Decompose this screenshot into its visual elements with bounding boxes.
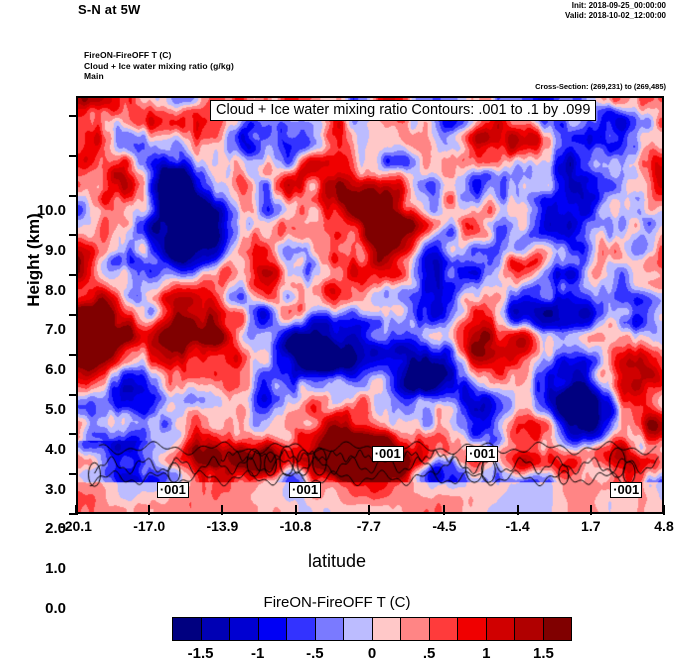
x-tick-mark xyxy=(295,505,297,515)
x-tick-label: 4.8 xyxy=(634,518,674,534)
x-tick-mark xyxy=(663,505,665,515)
contour-title: Cloud + Ice water mixing ratio Contours:… xyxy=(210,100,596,121)
y-tick-label: 6.0 xyxy=(14,361,66,378)
colorbar-swatch xyxy=(173,618,202,640)
x-tick-mark xyxy=(590,505,592,515)
contour-value-label: ·001 xyxy=(157,482,189,498)
contour-field-label: Cloud + Ice water mixing ratio (g/kg) xyxy=(84,61,234,72)
contour-value-label: ·001 xyxy=(372,446,404,462)
colorbar xyxy=(172,617,572,641)
cross-section-endpoints: Cross-Section: (269,231) to (269,485) xyxy=(535,82,666,91)
colorbar-tick-label: 0 xyxy=(342,645,402,662)
colorbar-tick-label: -.5 xyxy=(285,645,345,662)
colorbar-swatch xyxy=(430,618,459,640)
colorbar-tick-label: -1.5 xyxy=(171,645,231,662)
temperature-anomaly-field xyxy=(78,98,662,512)
y-tick-label: 3.0 xyxy=(14,481,66,498)
colorbar-title: FireON-FireOFF T (C) xyxy=(0,594,674,611)
colorbar-swatch xyxy=(458,618,487,640)
y-tick-mark xyxy=(69,115,78,117)
colorbar-swatch xyxy=(316,618,345,640)
page-title: S-N at 5W xyxy=(78,2,140,17)
x-tick-label: 1.7 xyxy=(561,518,621,534)
x-tick-mark xyxy=(148,505,150,515)
colorbar-swatch xyxy=(544,618,572,640)
x-tick-label: -17.0 xyxy=(119,518,179,534)
y-tick-label: 5.0 xyxy=(14,401,66,418)
contour-value-label: ·001 xyxy=(610,482,642,498)
y-tick-mark xyxy=(69,394,78,396)
contour-value-label: ·001 xyxy=(466,446,498,462)
valid-time: Valid: 2018-10-02_12:00:00 xyxy=(565,11,666,21)
x-tick-label: -4.5 xyxy=(414,518,474,534)
colorbar-swatch xyxy=(259,618,288,640)
y-tick-mark xyxy=(69,314,78,316)
colorbar-tick-label: .5 xyxy=(399,645,459,662)
colorbar-tick-label: -1 xyxy=(228,645,288,662)
y-tick-mark xyxy=(69,234,78,236)
domain-label: Main xyxy=(84,71,234,82)
x-tick-mark xyxy=(443,505,445,515)
y-tick-mark xyxy=(69,274,78,276)
colorbar-swatch xyxy=(202,618,231,640)
colorbar-tick-label: 1.5 xyxy=(513,645,573,662)
x-tick-mark xyxy=(368,505,370,515)
y-tick-mark xyxy=(69,354,78,356)
x-tick-label: -1.4 xyxy=(488,518,548,534)
colorbar-swatch xyxy=(287,618,316,640)
y-axis-title: Height (km) xyxy=(24,180,44,340)
colorbar-swatch xyxy=(487,618,516,640)
x-tick-mark xyxy=(75,505,77,515)
contour-value-label: ·001 xyxy=(289,482,321,498)
colorbar-swatch xyxy=(373,618,402,640)
x-tick-mark xyxy=(221,505,223,515)
x-tick-label: -20.1 xyxy=(46,518,106,534)
y-tick-mark xyxy=(69,195,78,197)
y-tick-mark xyxy=(69,155,78,157)
x-tick-label: -13.9 xyxy=(192,518,252,534)
colorbar-swatch xyxy=(515,618,544,640)
x-axis: -20.1-17.0-13.9-10.8-7.7-4.5-1.41.74.8 xyxy=(0,518,674,538)
shaded-field-label: FireON-FireOFF T (C) xyxy=(84,50,234,61)
colorbar-labels: -1.5-1-.50.511.5 xyxy=(130,645,630,667)
field-metadata: FireON-FireOFF T (C) Cloud + Ice water m… xyxy=(84,50,234,82)
colorbar-swatch xyxy=(230,618,259,640)
y-tick-label: 4.0 xyxy=(14,441,66,458)
colorbar-swatch xyxy=(344,618,373,640)
y-tick-mark xyxy=(69,473,78,475)
colorbar-swatch xyxy=(401,618,430,640)
x-tick-label: -7.7 xyxy=(339,518,399,534)
init-time: Init: 2018-09-25_00:00:00 xyxy=(565,1,666,11)
y-tick-mark xyxy=(69,433,78,435)
cross-section-plot: Cloud + Ice water mixing ratio Contours:… xyxy=(76,96,664,514)
x-tick-mark xyxy=(517,505,519,515)
run-time-block: Init: 2018-09-25_00:00:00 Valid: 2018-10… xyxy=(565,1,666,21)
x-axis-title: latitude xyxy=(0,551,674,572)
colorbar-tick-label: 1 xyxy=(456,645,516,662)
x-tick-label: -10.8 xyxy=(266,518,326,534)
